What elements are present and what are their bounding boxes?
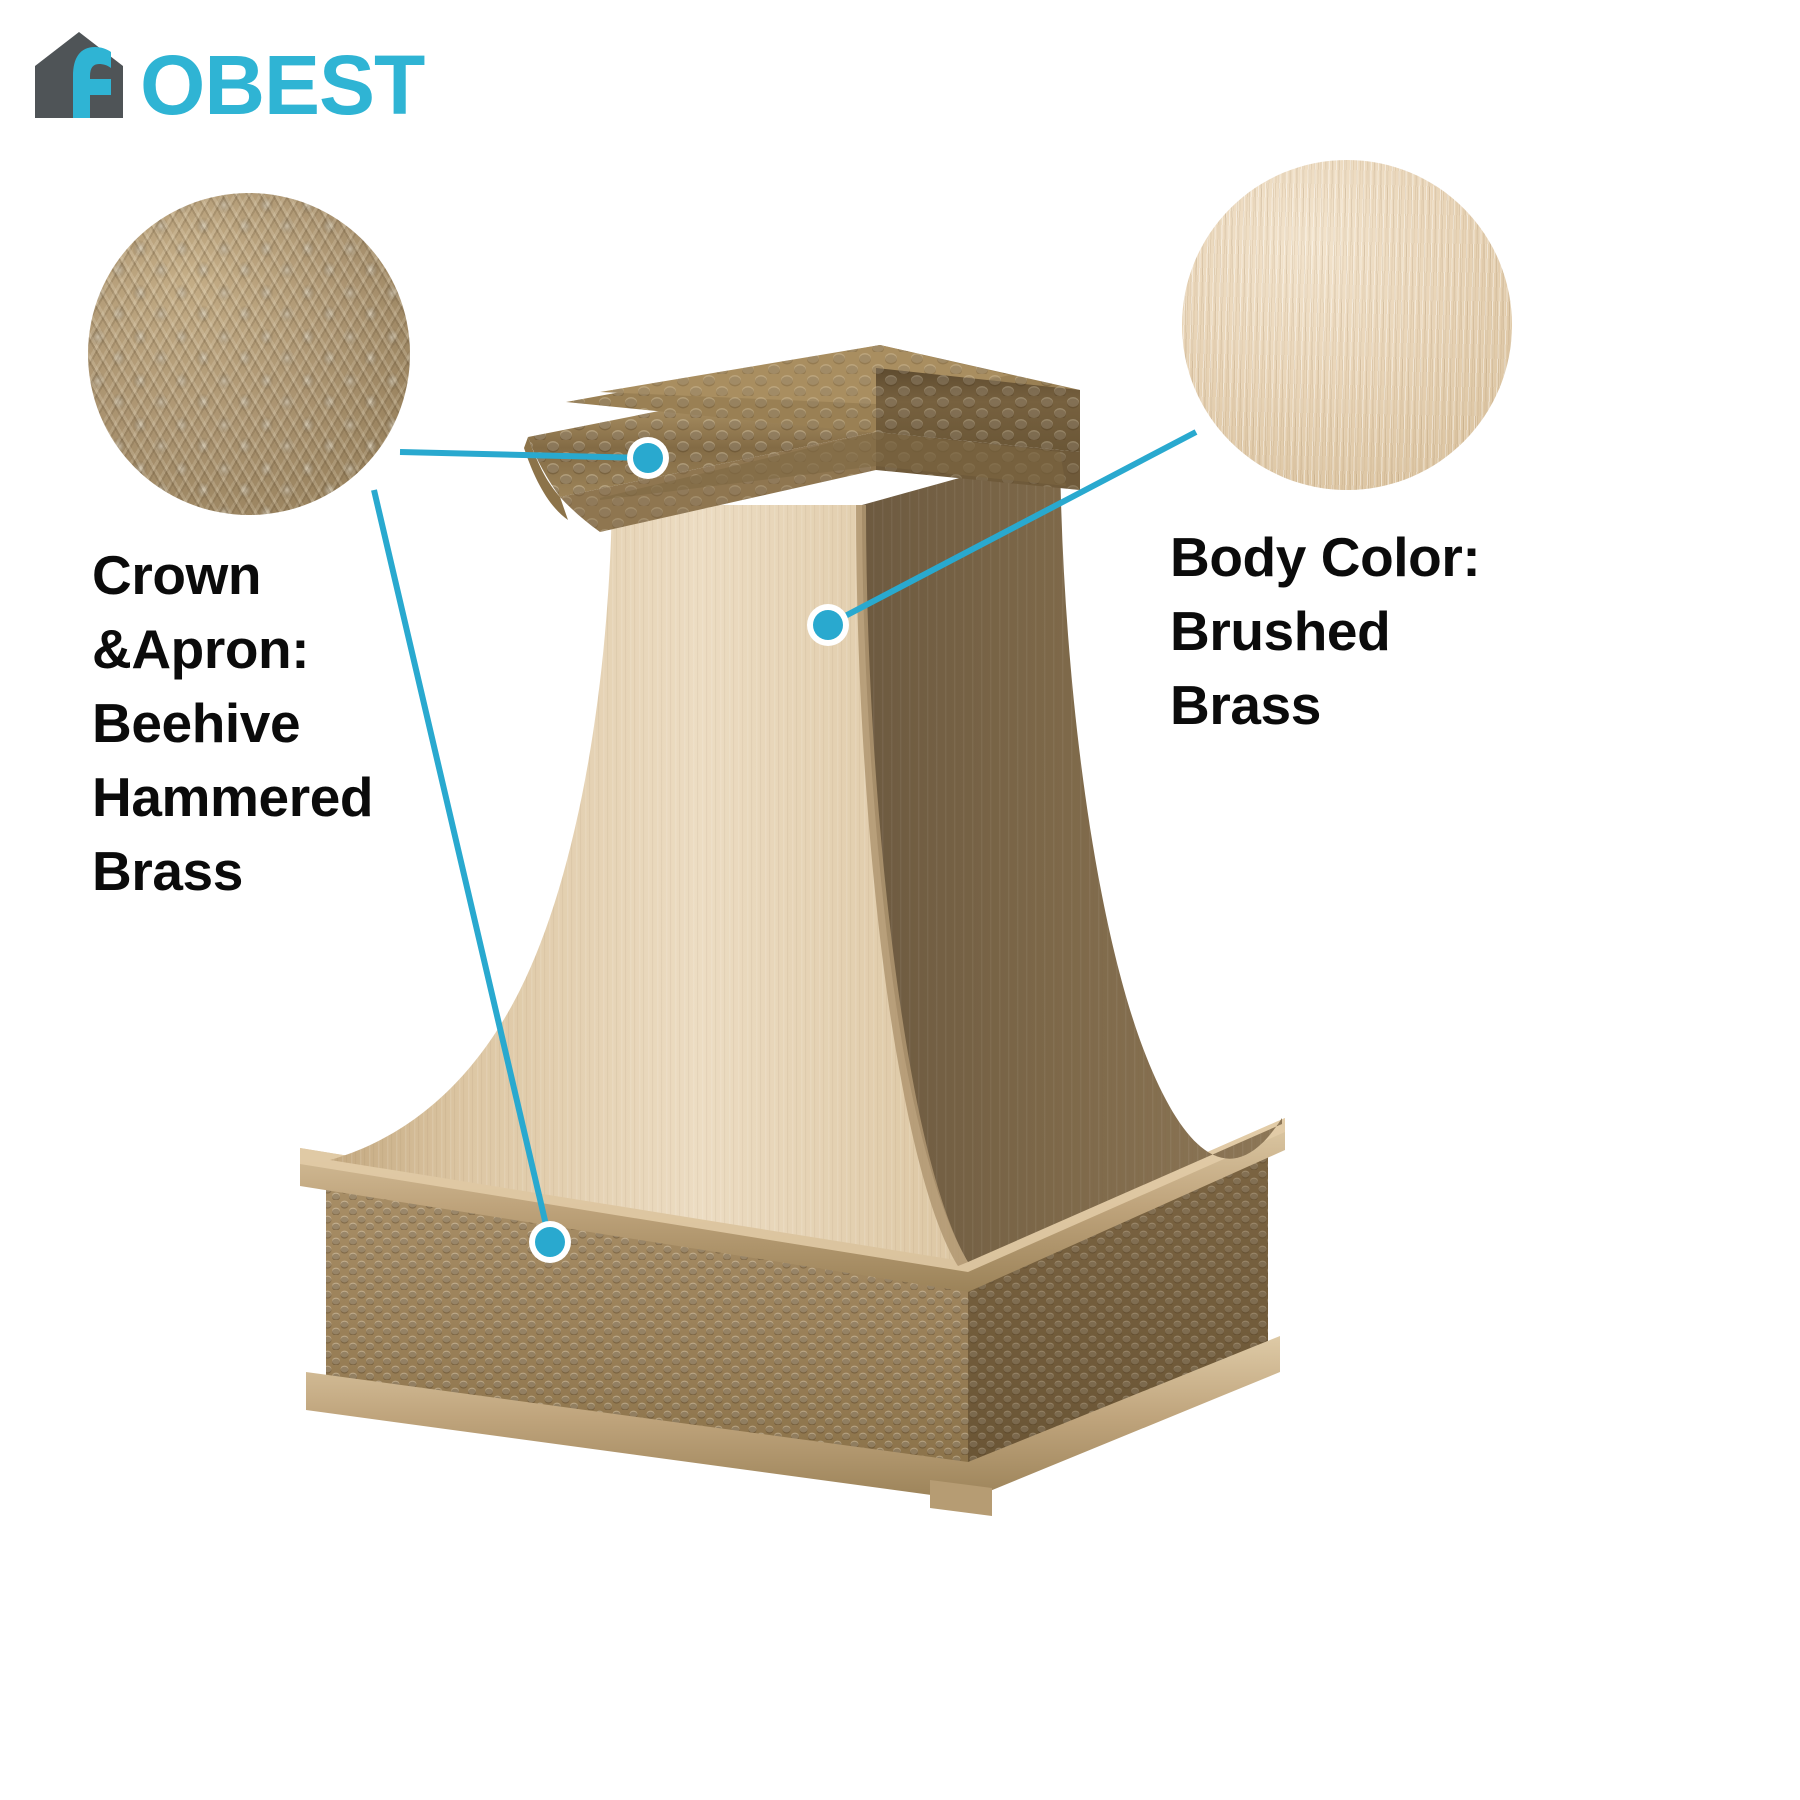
infographic-canvas: OBEST xyxy=(0,0,1800,1800)
callout-label-line: Brushed xyxy=(1170,594,1480,668)
beehive-hammered-brass-swatch xyxy=(88,193,410,515)
callout-label-line: &Apron: xyxy=(92,612,373,686)
callout-label-line: Brass xyxy=(1170,668,1480,742)
callout-label-line: Beehive xyxy=(92,686,373,760)
callout-label-line: Hammered xyxy=(92,760,373,834)
hood-body xyxy=(330,450,1282,1266)
brushed-brass-swatch xyxy=(1182,160,1512,490)
callout-label-line: Crown xyxy=(92,538,373,612)
callout-label-body-color: Body Color: Brushed Brass xyxy=(1170,520,1480,742)
callout-label-crown-apron: Crown &Apron: Beehive Hammered Brass xyxy=(92,538,373,908)
callout-label-line: Brass xyxy=(92,834,373,908)
callout-label-line: Body Color: xyxy=(1170,520,1480,594)
